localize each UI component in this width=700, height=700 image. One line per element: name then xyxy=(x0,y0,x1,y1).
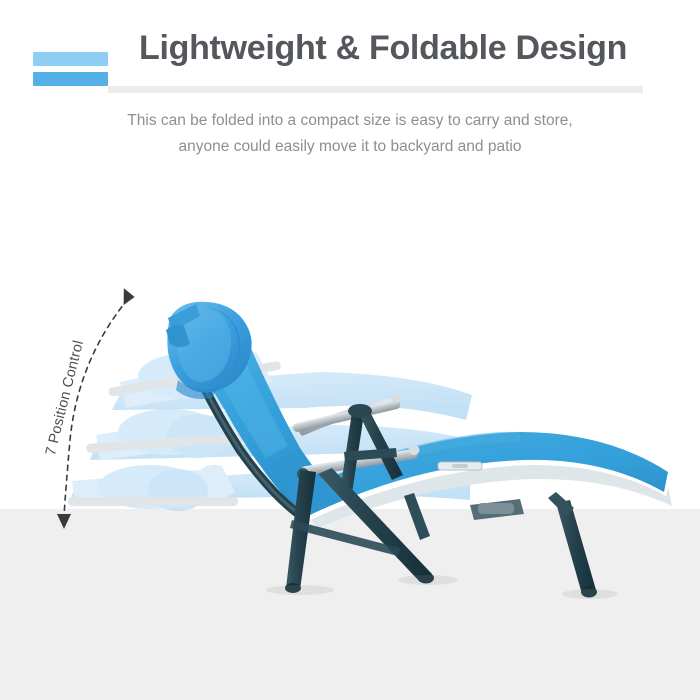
product-illustration xyxy=(0,0,700,700)
ground-shadow xyxy=(266,575,618,599)
product-feature-image: Lightweight & Foldable Design This can b… xyxy=(0,0,700,700)
footrest-support-leg xyxy=(548,492,597,598)
